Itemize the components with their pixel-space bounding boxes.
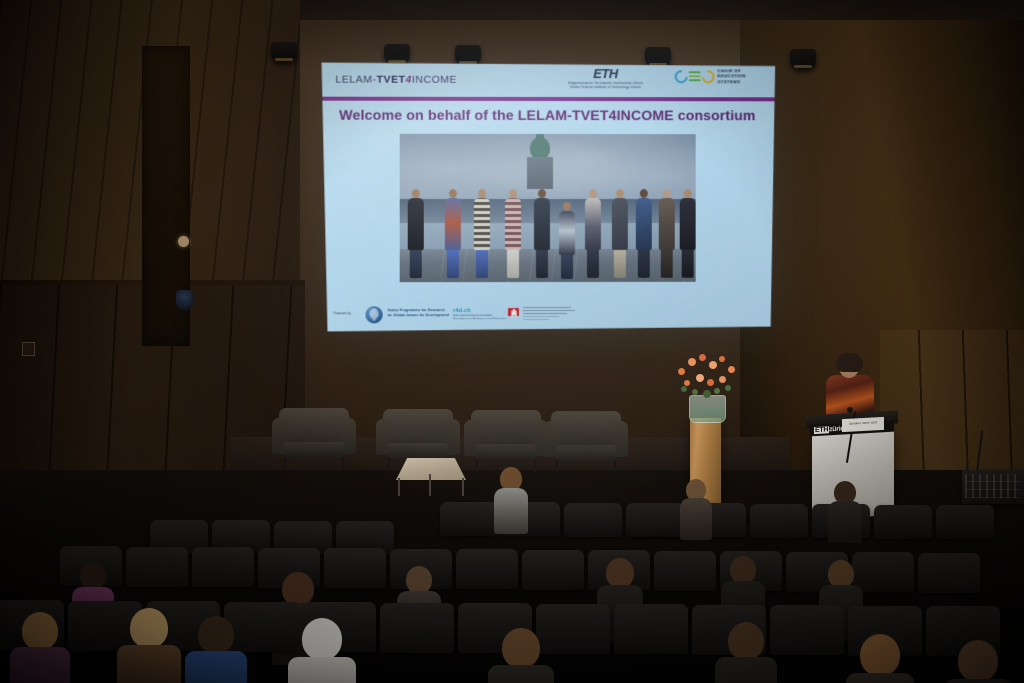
door-knob-light: [178, 236, 189, 247]
auditorium-seat: [456, 549, 518, 589]
auditorium-seat: [918, 553, 980, 593]
eth-wordmark: ETH: [568, 66, 643, 81]
auditorium-seat: [522, 550, 584, 590]
stage-coffee-table: [396, 458, 466, 496]
ces-letter-e-icon: [689, 71, 701, 81]
ces-letter-s-icon: [699, 67, 717, 85]
auditorium-seat: [936, 505, 994, 539]
audience-member: [300, 618, 344, 683]
auditorium-seat: [750, 504, 808, 538]
ceiling-spotlight-icon: [790, 49, 816, 69]
slide-title: Welcome on behalf of the LELAM-TVET4INCO…: [319, 108, 775, 125]
flower-bouquet: [672, 352, 744, 404]
logo-tvet: TVET: [377, 74, 406, 86]
audience-member: [684, 479, 708, 540]
auditorium-seat: [380, 603, 454, 653]
sdc-wordmark: [523, 307, 579, 322]
audience-member: [20, 612, 60, 683]
auditorium-seat: [614, 604, 688, 654]
auditorium-seat: [874, 505, 932, 539]
photo-person: [533, 189, 550, 278]
r4d-programme-name: Swiss Programme for Research on Global I…: [388, 308, 450, 318]
stage-armchair: [544, 411, 628, 473]
photo-person: [558, 202, 575, 279]
ces-wordmark: CHAIR OF EDUCATION SYSTEMS: [718, 68, 746, 84]
ces-logo: CHAIR OF EDUCATION SYSTEMS: [675, 68, 746, 84]
audience-member: [832, 481, 858, 543]
audio-mixer-console: [962, 470, 1024, 504]
auditorium-scene: LELAM-TVET4INCOME ETH Eidgenössische Tec…: [0, 0, 1024, 683]
r4d-funder-2: Swiss Agency for Development and Coopera…: [453, 317, 507, 320]
slide-header: LELAM-TVET4INCOME ETH Eidgenössische Tec…: [319, 63, 775, 98]
photo-person: [473, 189, 490, 278]
consortium-group-photo: [400, 134, 696, 282]
audience-member: [858, 634, 902, 683]
photo-person: [444, 189, 461, 278]
exit-sign-plate: [22, 342, 35, 356]
photo-building-dome: [524, 137, 556, 189]
photo-person: [584, 189, 601, 278]
r4d-funders: Swiss National Science Foundation Swiss …: [453, 314, 507, 321]
slide-surface: LELAM-TVET4INCOME ETH Eidgenössische Tec…: [319, 63, 775, 332]
audience-member: [726, 622, 766, 683]
projection-screen: LELAM-TVET4INCOME ETH Eidgenössische Tec…: [320, 63, 776, 331]
ces-mark-icon: [675, 70, 715, 83]
photo-person: [658, 189, 675, 278]
financed-by-label: Financed by: [333, 311, 350, 315]
stage-armchair: [272, 408, 356, 470]
wall-sconce-icon: [176, 290, 193, 311]
eth-logo: ETH Eidgenössische Technische Hochschule…: [568, 66, 643, 90]
lelam-tvet4income-logo: LELAM-TVET4INCOME: [335, 74, 457, 86]
auditorium-seat: [654, 551, 716, 591]
eth-subtitle-en: Swiss Federal Institute of Technology Zu…: [568, 85, 643, 90]
ces-letter-c-icon: [672, 67, 690, 85]
audience-member: [128, 608, 170, 683]
logo-suffix: INCOME: [412, 74, 457, 86]
audience-member: [500, 628, 542, 683]
auditorium-seat: [126, 547, 188, 587]
ceiling-spotlight-icon: [271, 42, 297, 62]
audience-member: [196, 616, 236, 683]
auditorium-seat: [536, 604, 610, 654]
podium-name-card: Speaker name card: [842, 417, 884, 432]
ces-line-3: SYSTEMS: [718, 79, 746, 84]
stage-armchair: [464, 410, 548, 472]
auditorium-seat: [564, 503, 622, 537]
auditorium-seat: [626, 503, 684, 537]
photo-person: [407, 189, 424, 278]
slide-footer-logos: Financed by Swiss Programme for Research…: [319, 303, 775, 326]
auditorium-seat: [852, 552, 914, 592]
auditorium-seat: [770, 605, 844, 655]
logo-prefix: LELAM-: [335, 74, 376, 86]
slide-body: Welcome on behalf of the LELAM-TVET4INCO…: [319, 101, 775, 332]
photo-person: [504, 189, 521, 278]
auditorium-seat: [440, 502, 498, 536]
swiss-cross-icon: [508, 308, 519, 316]
ceiling-spotlight-icon: [384, 44, 410, 64]
name-card-line-1: Speaker name card: [842, 417, 884, 426]
r4d-globe-icon: [366, 306, 383, 323]
photo-person: [635, 189, 652, 278]
ceiling-spotlight-icon: [455, 45, 481, 65]
auditorium-seat: [324, 548, 386, 588]
microphone-icon: [847, 407, 853, 413]
podium-logo-main: ETH: [814, 426, 829, 434]
audience-member: [498, 467, 524, 534]
audience-member: [956, 640, 1000, 683]
photo-person: [679, 189, 696, 278]
photo-person: [611, 189, 628, 278]
r4d-line-2: on Global Issues for Development: [388, 313, 450, 318]
auditorium-seat: [192, 547, 254, 587]
